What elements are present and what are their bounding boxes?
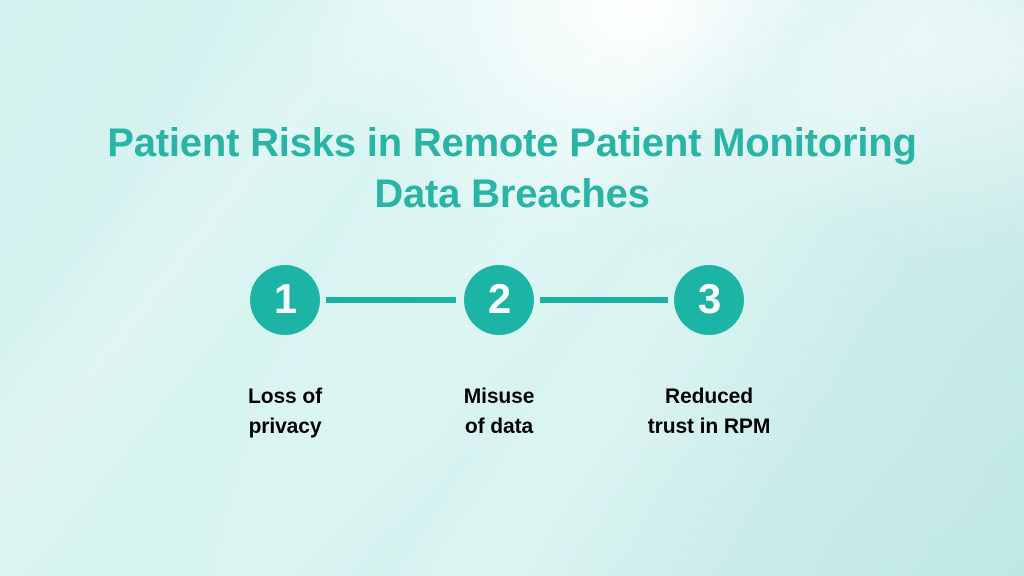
step-number-2: 2 [488,278,510,320]
step-label-1: Loss of privacy [185,382,385,443]
step-item-2[interactable]: 2 Misuse of data [399,265,599,443]
step-item-3[interactable]: 3 Reduced trust in RPM [609,265,809,443]
steps-timeline: 1 Loss of privacy 2 Misuse of data 3 Red… [0,0,1024,576]
step-label-3: Reduced trust in RPM [609,382,809,443]
step-circle-1[interactable]: 1 [250,265,320,335]
step-number-3: 3 [698,278,720,320]
step-number-1: 1 [274,278,296,320]
step-item-1[interactable]: 1 Loss of privacy [185,265,385,443]
step-circle-3[interactable]: 3 [674,265,744,335]
infographic-canvas: Patient Risks in Remote Patient Monitori… [0,0,1024,576]
infographic-content: Patient Risks in Remote Patient Monitori… [0,0,1024,576]
step-circle-2[interactable]: 2 [464,265,534,335]
step-label-2: Misuse of data [399,382,599,443]
